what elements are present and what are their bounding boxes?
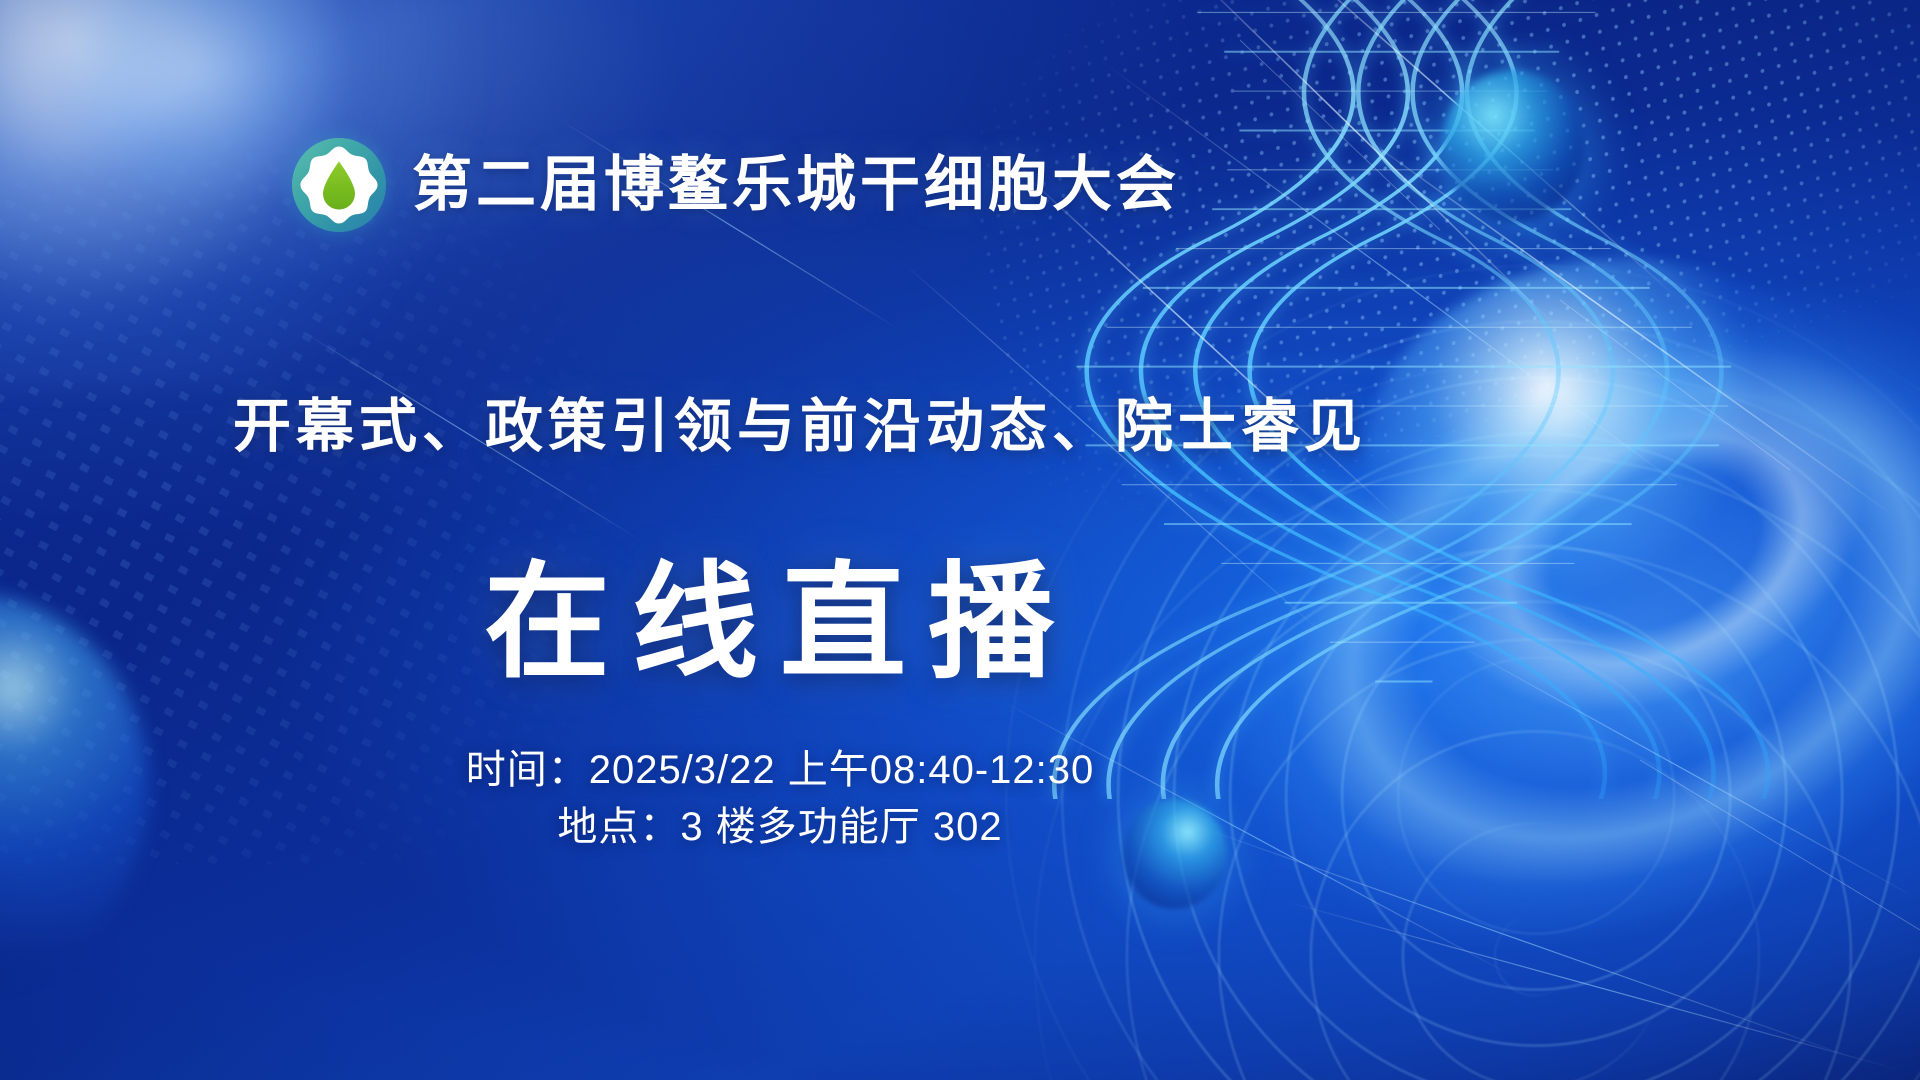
conference-logo [292,138,386,232]
session-subtitle-row: 开幕式、政策引领与前沿动态、院士睿见 [0,398,1920,456]
live-stream-poster: 第二届博鳌乐城干细胞大会 开幕式、政策引领与前沿动态、院士睿见 在线直播 时间：… [0,0,1920,1080]
logo-flower-droplet-icon [292,138,386,232]
session-subtitle: 开幕式、政策引领与前沿动态、院士睿见 [233,394,1367,459]
conference-title-row: 第二届博鳌乐城干细胞大会 [0,138,1920,232]
headline-row: 在线直播 [0,560,1920,686]
conference-title: 第二届博鳌乐城干细胞大会 [412,155,1180,215]
poster-content: 第二届博鳌乐城干细胞大会 开幕式、政策引领与前沿动态、院士睿见 在线直播 时间：… [0,0,1920,1080]
event-time: 时间：2025/3/22 上午08:40-12:30 [0,742,1560,799]
event-location: 地点：3 楼多功能厅 302 [0,799,1560,856]
live-stream-headline: 在线直播 [484,552,1076,693]
event-details: 时间：2025/3/22 上午08:40-12:30 地点：3 楼多功能厅 30… [0,742,1920,856]
